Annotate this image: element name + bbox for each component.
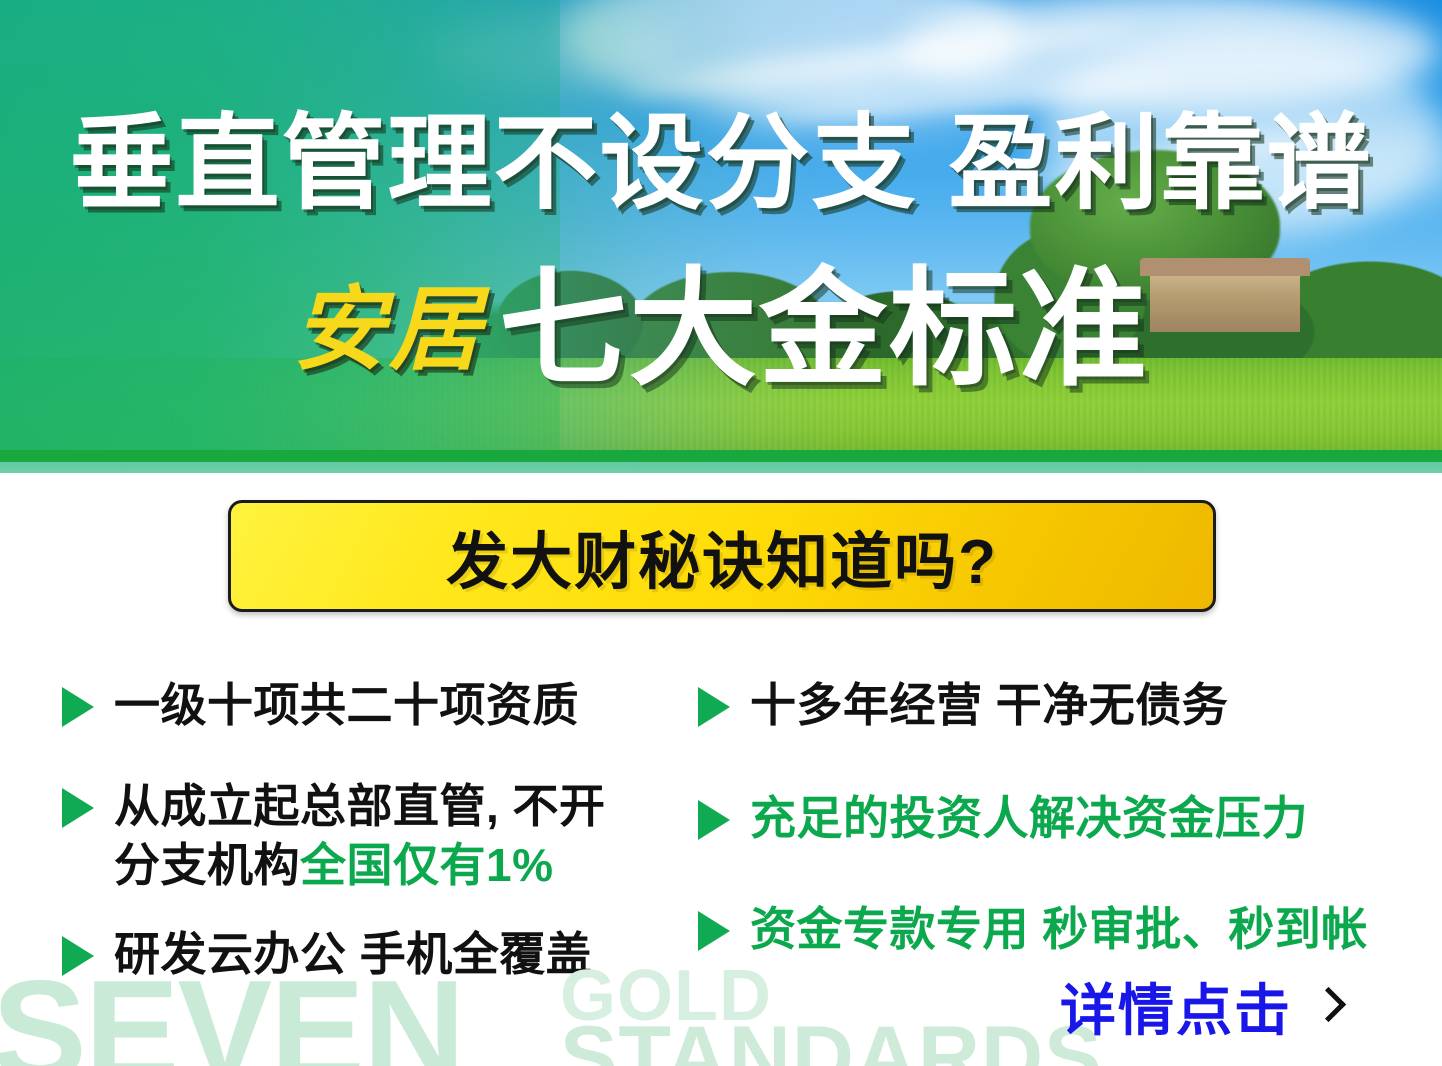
triangle-bullet-icon <box>62 788 94 828</box>
list-item: 十多年经营 干净无债务 <box>698 676 1418 735</box>
promo-banner: 垂直管理不设分支 盈利靠谱 安居七大金标准 发大财秘诀知道吗? 一级十项共二十项… <box>0 0 1442 1066</box>
hero-subheadline: 七大金标准 <box>499 266 1149 394</box>
list-item: 从成立起总部直管, 不开 分支机构全国仅有1% <box>62 777 702 895</box>
cta-label: 详情点击 <box>1060 966 1292 1047</box>
watermark-standards: STANDARDS <box>560 1014 1103 1066</box>
triangle-bullet-icon <box>698 687 730 727</box>
details-cta-link[interactable]: 详情点击 <box>1060 966 1336 1047</box>
feature-text: 研发云办公 手机全覆盖 <box>114 925 592 984</box>
list-item: 充足的投资人解决资金压力 <box>698 789 1418 848</box>
hero-subheadline-row: 安居七大金标准 <box>0 266 1442 394</box>
hero-headline: 垂直管理不设分支 盈利靠谱 <box>0 112 1442 216</box>
feature-text-line2-plain: 分支机构 <box>114 839 300 891</box>
list-item: 研发云办公 手机全覆盖 <box>62 925 702 984</box>
ribbon-label: 发大财秘诀知道吗? <box>446 511 998 601</box>
feature-text: 一级十项共二十项资质 <box>114 676 579 735</box>
feature-text-highlight: 全国仅有1% <box>300 839 553 891</box>
divider-band-mint <box>0 462 1442 473</box>
feature-text: 资金专款专用 秒审批、秒到帐 <box>750 900 1368 959</box>
chevron-right-icon <box>1314 988 1336 1026</box>
triangle-bullet-icon <box>62 936 94 976</box>
feature-list-left: 一级十项共二十项资质 从成立起总部直管, 不开 分支机构全国仅有1% 研发云办公… <box>62 676 702 1012</box>
list-item: 一级十项共二十项资质 <box>62 676 702 735</box>
hero-section: 垂直管理不设分支 盈利靠谱 安居七大金标准 <box>0 0 1442 450</box>
headline-ribbon[interactable]: 发大财秘诀知道吗? <box>228 500 1216 612</box>
feature-list-right: 十多年经营 干净无债务 充足的投资人解决资金压力 资金专款专用 秒审批、秒到帐 <box>698 676 1418 987</box>
feature-text-multiline: 从成立起总部直管, 不开 分支机构全国仅有1% <box>114 777 606 895</box>
triangle-bullet-icon <box>698 800 730 840</box>
feature-text: 充足的投资人解决资金压力 <box>750 789 1308 848</box>
feature-text: 十多年经营 干净无债务 <box>750 676 1228 735</box>
feature-text-line1: 从成立起总部直管, 不开 <box>114 780 606 832</box>
triangle-bullet-icon <box>698 911 730 951</box>
hero-brand-name: 安居 <box>293 284 485 376</box>
divider-band-green <box>0 450 1442 462</box>
triangle-bullet-icon <box>62 687 94 727</box>
list-item: 资金专款专用 秒审批、秒到帐 <box>698 900 1418 959</box>
